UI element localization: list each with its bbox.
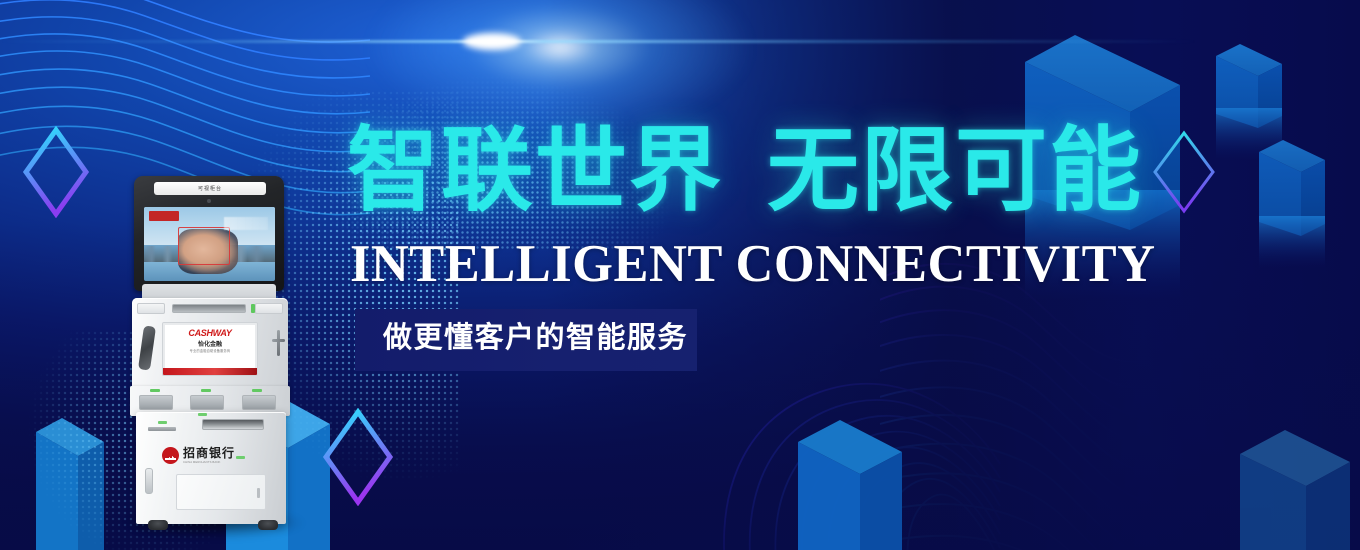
kiosk-side-panel-left xyxy=(137,303,165,314)
kiosk-brand-cn: 怡化金融 xyxy=(163,339,257,348)
kiosk-side-handle xyxy=(145,468,153,494)
kiosk-led-4 xyxy=(158,421,167,424)
kiosk-screen xyxy=(144,207,275,281)
kiosk-brand-sub: 专业的金融自助设备服务商 xyxy=(163,348,257,353)
outline-diamond-right xyxy=(1152,130,1216,214)
kiosk-screen-highlight-box xyxy=(178,227,230,265)
banner-subheadline: INTELLIGENT CONNECTIVITY xyxy=(350,238,1155,291)
kiosk-lower-body: 招商银行 CHINA MERCHANTS BANK xyxy=(136,412,286,524)
kiosk-top-label: 可视柜台 xyxy=(154,182,266,195)
headline-part-2: 无限可能 xyxy=(767,120,1143,222)
cube-slim-upper-right xyxy=(1216,44,1282,160)
kiosk-access-door xyxy=(176,474,266,510)
kiosk-brand-en: CASHWAY xyxy=(163,328,257,338)
kiosk-brand-card: CASHWAY 怡化金融 专业的金融自助设备服务商 xyxy=(162,322,258,376)
bank-logo-mark-icon xyxy=(162,447,179,464)
banner-headline: 智联世界无限可能 xyxy=(347,125,1143,217)
gradient-diamond-left xyxy=(22,126,90,218)
banner-root: 可视柜台 CASHWAY 怡化金融 专业的金融自助设备服务商 xyxy=(0,0,1360,550)
gradient-diamond-lower xyxy=(322,408,394,506)
kiosk-status-led-top xyxy=(251,304,255,313)
kiosk-receipt-slot xyxy=(148,427,176,431)
cube-mid-right xyxy=(1259,140,1325,268)
kiosk-screen-text-block xyxy=(224,217,269,230)
kiosk-display-bezel: 可视柜台 xyxy=(134,176,284,291)
banner-tagline: 做更懂客户的智能服务 xyxy=(383,324,688,353)
kiosk-tray-1 xyxy=(139,395,173,410)
cube-far-left-small xyxy=(36,418,104,550)
kiosk-foot-right xyxy=(258,520,278,530)
kiosk-side-panel-right xyxy=(255,303,283,314)
lens-flare-core xyxy=(463,33,521,50)
kiosk-upper-panel: CASHWAY 怡化金融 专业的金融自助设备服务商 xyxy=(132,298,288,390)
kiosk-led-5 xyxy=(198,413,207,416)
headline-part-1: 智联世界 xyxy=(347,120,723,222)
kiosk-led-3 xyxy=(252,389,262,392)
kiosk-bank-logo: 招商银行 CHINA MERCHANTS BANK xyxy=(162,444,262,466)
kiosk-handset xyxy=(138,325,156,370)
kiosk-cash-dispenser xyxy=(202,419,264,430)
kiosk-camera-icon xyxy=(207,199,211,203)
kiosk-tray-2 xyxy=(190,395,224,410)
kiosk-brand-bar xyxy=(163,368,257,375)
cube-lower-center xyxy=(798,420,902,550)
kiosk-led-2 xyxy=(201,389,211,392)
bank-name-cn: 招商银行 xyxy=(183,447,235,459)
kiosk-machine: 可视柜台 CASHWAY 怡化金融 专业的金融自助设备服务商 xyxy=(118,176,308,544)
kiosk-led-1 xyxy=(150,389,160,392)
kiosk-document-slot xyxy=(172,304,246,313)
cube-translucent-bottom-right xyxy=(1240,430,1350,550)
kiosk-foot-left xyxy=(148,520,168,530)
kiosk-stylus xyxy=(277,330,280,356)
lens-flare-glow xyxy=(370,0,750,135)
kiosk-door-handle xyxy=(257,488,260,498)
lens-flare-bar xyxy=(0,40,1360,43)
kiosk-tray-3 xyxy=(242,395,276,410)
kiosk-screen-logo-badge xyxy=(149,211,179,221)
bank-name-en: CHINA MERCHANTS BANK xyxy=(183,461,235,464)
